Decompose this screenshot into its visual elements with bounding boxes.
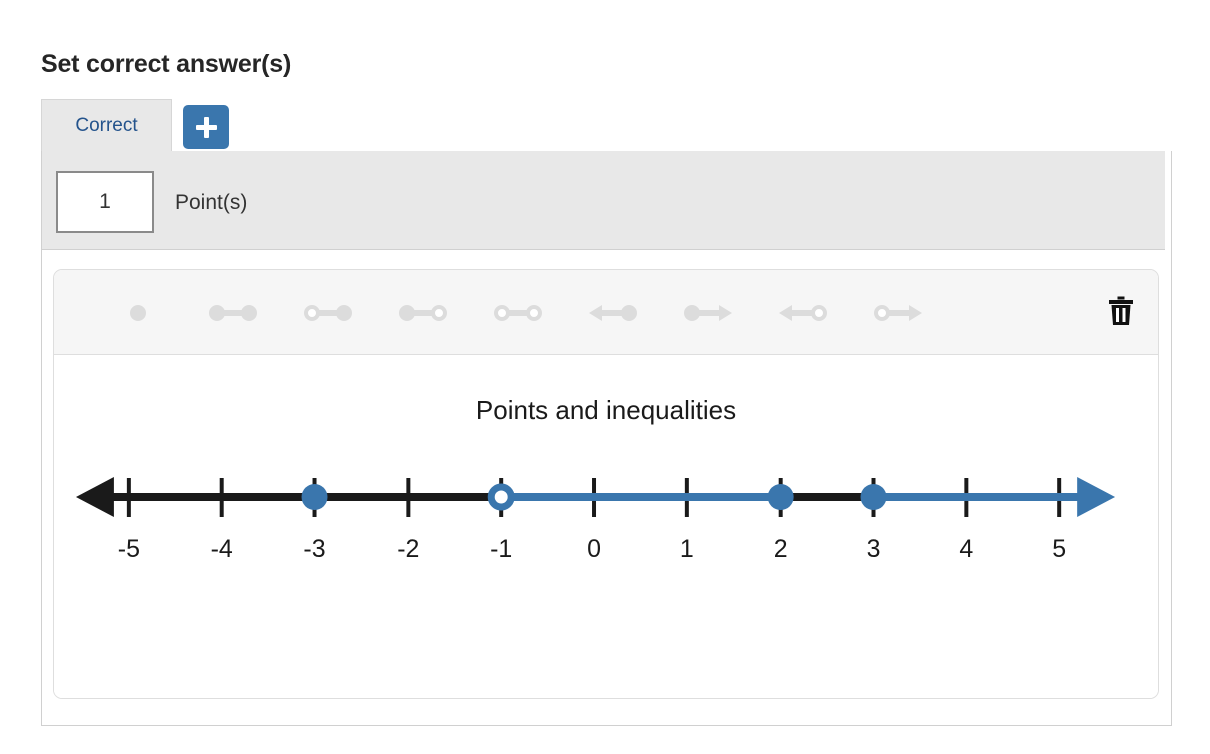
point-closed-2[interactable]: [768, 484, 794, 510]
tick-label: -5: [118, 535, 140, 563]
tick-label: 0: [587, 535, 601, 563]
point-closed-3[interactable]: [861, 484, 887, 510]
tick-label: 5: [1052, 535, 1066, 563]
answer-panel: Point(s): [41, 151, 1172, 726]
trash-icon: [1108, 296, 1134, 326]
segment-open-open-tool[interactable]: [490, 290, 546, 336]
point-closed-neg3[interactable]: [302, 484, 328, 510]
ray-right-closed-tool[interactable]: [680, 290, 736, 336]
page-root: Set correct answer(s) Correct Point(s): [0, 0, 1210, 754]
tick-label: 1: [680, 535, 694, 563]
segment-open-closed-tool[interactable]: [300, 290, 356, 336]
ray-right-open-tool[interactable]: [870, 290, 926, 336]
tick-label: 4: [959, 535, 973, 563]
add-answer-tab-button[interactable]: [183, 105, 229, 149]
tick-label: -3: [303, 535, 325, 563]
delete-button[interactable]: [1098, 288, 1144, 334]
number-line-widget: Points and inequalities: [53, 269, 1159, 699]
point-open-neg1[interactable]: [491, 487, 511, 507]
tick-label: 2: [774, 535, 788, 563]
tick-label: -1: [490, 535, 512, 563]
number-line-canvas[interactable]: Points and inequalities: [54, 355, 1158, 698]
tick-label: -4: [211, 535, 233, 563]
number-line-toolbar: [54, 270, 1158, 355]
ray-right-closed-icon: [680, 301, 736, 325]
tick-label: -2: [397, 535, 419, 563]
left-arrowhead: [76, 477, 114, 517]
page-title: Set correct answer(s): [41, 50, 291, 79]
answer-tabstrip: Correct: [41, 99, 1172, 151]
segment-open-closed-icon: [300, 301, 356, 325]
segment-closed-open-icon: [395, 301, 451, 325]
ray-left-open-icon: [775, 301, 831, 325]
segment-open-open-icon: [490, 301, 546, 325]
points-band: Point(s): [42, 151, 1165, 250]
number-line-title: Points and inequalities: [54, 395, 1158, 426]
points-label: Point(s): [175, 191, 247, 215]
ray-left-open-tool[interactable]: [775, 290, 831, 336]
tab-correct[interactable]: Correct: [41, 99, 172, 151]
tick-labels: -5 -4 -3 -2 -1 0 1 2 3 4 5: [118, 535, 1066, 563]
ray-right-open-icon: [870, 301, 926, 325]
points-input[interactable]: [56, 171, 154, 233]
dot-filled-icon: [110, 301, 166, 325]
segment-closed-open-tool[interactable]: [395, 290, 451, 336]
tick-label: 3: [867, 535, 881, 563]
ray-left-closed-icon: [585, 301, 641, 325]
plus-icon: [195, 116, 217, 138]
segment-closed-closed-tool[interactable]: [205, 290, 261, 336]
right-arrowhead: [1077, 477, 1115, 517]
ray-left-closed-tool[interactable]: [585, 290, 641, 336]
number-line-graph[interactable]: -5 -4 -3 -2 -1 0 1 2 3 4 5: [54, 465, 1158, 585]
segment-closed-closed-icon: [205, 301, 261, 325]
tab-correct-label: Correct: [75, 115, 137, 137]
single-closed-point-tool[interactable]: [110, 290, 166, 336]
